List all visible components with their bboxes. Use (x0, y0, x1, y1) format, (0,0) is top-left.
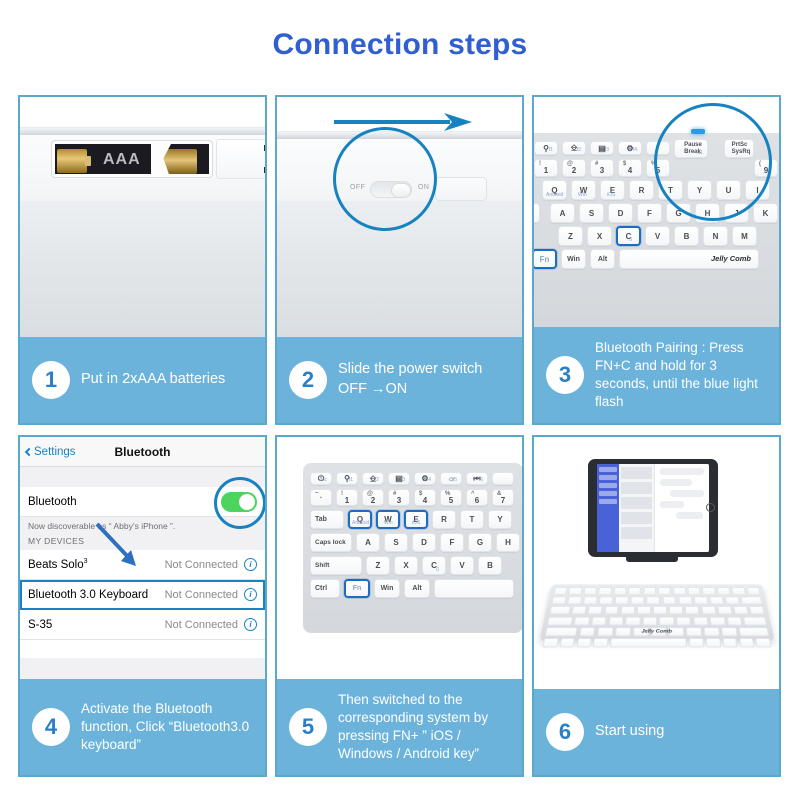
key-label: Z (568, 232, 573, 241)
step-panel-2: OFF ON 2 Slide the power switch OFF →ON (275, 95, 524, 425)
key[interactable] (732, 587, 746, 595)
key-r[interactable]: R (629, 180, 654, 200)
key-v[interactable]: V (450, 556, 474, 575)
key-v[interactable]: V (645, 226, 670, 246)
message-bubble (660, 479, 692, 486)
device-name-superscript: 3 (84, 558, 88, 565)
key-label: 4 (423, 496, 427, 505)
key-shift-char: ^ (471, 491, 475, 497)
key[interactable] (568, 587, 582, 595)
key[interactable] (676, 616, 691, 625)
key-sub: iOS (412, 520, 420, 526)
key[interactable] (613, 587, 626, 595)
key-c[interactable]: C 0 (616, 226, 641, 246)
key-caps-lock[interactable]: Caps lock (310, 533, 352, 552)
step-number-2: 2 (289, 361, 327, 399)
key-label: M (741, 232, 748, 241)
my-devices-header: MY DEVICES (20, 533, 265, 550)
key-n[interactable]: N (703, 226, 728, 246)
key[interactable] (721, 627, 738, 636)
key-d[interactable]: D (412, 533, 436, 552)
key-sub: iOS (607, 192, 615, 198)
brand-label: Jelly Comb (711, 254, 751, 263)
key[interactable] (685, 606, 700, 614)
key-label: Caps lock (315, 539, 346, 546)
step-number-4: 4 (32, 708, 70, 746)
keyboard-edge (20, 127, 265, 135)
key-label: Alt (598, 256, 607, 263)
device-status: Not Connected (165, 559, 238, 571)
key-t[interactable]: T (460, 510, 484, 529)
key-b[interactable]: B (674, 226, 699, 246)
key-f[interactable]: F (637, 203, 662, 223)
key-arrow-updown[interactable] (739, 638, 755, 647)
step-1-text: Put in 2xAAA batteries (81, 370, 225, 390)
keyboard-5: ⏻esc ⚲f1 ⎒f2 ▤f3 ⚙f4 ☼f5 ⏮f6 ~ ` (303, 463, 522, 633)
key-a[interactable]: A (550, 203, 575, 223)
step-number-3: 3 (546, 356, 584, 394)
key-s[interactable]: S (579, 203, 604, 223)
key[interactable] (597, 627, 613, 636)
key-e[interactable]: E iOS (404, 510, 428, 529)
key-shift-char: @ (567, 161, 573, 167)
key[interactable] (643, 587, 656, 595)
steps-grid: AAA 1 Put in 2xAAA batteries (18, 95, 782, 777)
step-panel-4: Settings Bluetooth Bluetooth Now discove… (18, 435, 267, 777)
key-2[interactable]: @ 2 (562, 159, 586, 177)
key-shift-char: & (497, 491, 501, 497)
key-backtick[interactable]: ~ ` (310, 489, 332, 506)
list-item (621, 467, 652, 479)
step-6-caption: 6 Start using (534, 689, 779, 775)
key-1[interactable]: ! 1 (534, 159, 558, 177)
message-bubble (676, 512, 703, 519)
key-win[interactable]: Win (374, 579, 400, 598)
key-sub: Win (578, 192, 587, 198)
key-z[interactable]: Z (366, 556, 390, 575)
step-2-caption: 2 Slide the power switch OFF →ON (277, 337, 522, 423)
step-panel-1: AAA 1 Put in 2xAAA batteries (18, 95, 267, 425)
key[interactable] (669, 606, 683, 614)
key-backspace[interactable] (740, 597, 762, 605)
cover-pin-top (264, 145, 265, 151)
key-label: H (505, 538, 511, 547)
key-f3[interactable]: ▤f3 (590, 141, 614, 155)
device-row-beats-solo[interactable]: Beats Solo3 Not Connected i (20, 550, 265, 580)
step-3-illustration: ⚲f1 ⎒f2 ▤f3 ⚙f4 Pause Breakf11 PrtSc Sys… (534, 97, 779, 327)
key-enter[interactable] (743, 616, 767, 625)
key-label: 4 (628, 166, 632, 175)
key-label: R (639, 186, 645, 195)
key-label: R (441, 515, 447, 524)
message-bubble (660, 468, 704, 475)
key-label: Alt (412, 585, 421, 592)
key[interactable] (625, 616, 640, 625)
device-name: S-35 (28, 619, 165, 631)
key-f4[interactable]: ⚙f4 (618, 141, 642, 155)
device-status: Not Connected (165, 619, 238, 631)
key-shift-char: % (445, 491, 450, 497)
key[interactable] (583, 597, 598, 605)
key-shift[interactable]: Shift (310, 556, 362, 575)
key-label: S (589, 209, 594, 218)
key-sub: f2 (375, 477, 379, 483)
key[interactable] (693, 616, 708, 625)
key-label: T (470, 515, 475, 524)
key-sub: Android (546, 192, 563, 198)
key[interactable] (647, 597, 661, 605)
ios-list-tail (20, 640, 265, 658)
key[interactable] (599, 597, 613, 605)
key[interactable] (574, 616, 590, 625)
key-label: K (763, 209, 769, 218)
key-f3[interactable]: ▤f3 (388, 472, 410, 485)
tablet-screen (597, 464, 709, 552)
key[interactable] (749, 606, 765, 614)
key-sub: f6 (479, 477, 483, 483)
key[interactable] (678, 597, 692, 605)
key-label: X (403, 561, 408, 570)
key-label: S (393, 538, 398, 547)
brand-label: Jelly Comb (641, 629, 672, 634)
key-7[interactable]: & 7 (492, 489, 514, 506)
bluetooth-row-label: Bluetooth (28, 496, 221, 508)
sidebar-item (599, 483, 617, 488)
key-label: N (713, 232, 719, 241)
key[interactable] (598, 587, 612, 595)
message-bubble (670, 490, 704, 497)
key[interactable] (642, 616, 657, 625)
key-label: X (597, 232, 602, 241)
key-alt[interactable] (593, 638, 608, 647)
key-win[interactable] (576, 638, 592, 647)
key[interactable] (567, 597, 582, 605)
step-5-caption: 5 Then switched to the corresponding sys… (277, 679, 522, 775)
step-6-text: Start using (595, 722, 664, 742)
key-row (547, 616, 767, 625)
key-x[interactable]: X (394, 556, 418, 575)
key-shift-char: $ (419, 491, 422, 497)
step-4-text: Activate the Bluetooth function, Click “… (81, 700, 257, 753)
key-caps-lock[interactable]: ock (534, 203, 540, 223)
key-2[interactable]: @ 2 (362, 489, 384, 506)
key[interactable] (726, 616, 742, 625)
key-label: 2 (572, 166, 576, 175)
key-4[interactable]: $ 4 (618, 159, 642, 177)
step-2-text-line2: OFF →ON (338, 380, 482, 400)
key-label: V (655, 232, 660, 241)
key[interactable] (583, 587, 597, 595)
key-space[interactable] (610, 638, 687, 647)
key-label: Ctrl (315, 585, 327, 592)
message-bubble (660, 501, 684, 508)
key-arrow-left[interactable] (722, 638, 738, 647)
list-item (621, 497, 652, 509)
key-label: B (487, 561, 493, 570)
tablet-stand (626, 556, 678, 562)
step-2-text-line1: Slide the power switch (338, 360, 482, 380)
sidebar-item (599, 499, 617, 504)
key[interactable] (579, 627, 596, 636)
tablet-device (588, 459, 718, 557)
key[interactable] (701, 606, 716, 614)
key-label: F (450, 538, 455, 547)
key-f2[interactable]: ⎒f2 (562, 141, 586, 155)
key[interactable] (615, 627, 631, 636)
key[interactable] (551, 597, 566, 605)
key-ctrl[interactable] (542, 638, 558, 647)
key-label: A (560, 209, 566, 218)
key[interactable] (687, 587, 700, 595)
key-shift-char: ! (539, 161, 541, 167)
key-sub: f1 (549, 147, 553, 153)
key-sub: f4 (427, 477, 431, 483)
key[interactable] (710, 616, 726, 625)
key-b[interactable]: B (478, 556, 502, 575)
step-4-caption: 4 Activate the Bluetooth function, Click… (20, 679, 265, 775)
key-shift-right[interactable] (739, 627, 770, 636)
home-button-icon (706, 503, 715, 512)
switch-recess (435, 177, 487, 201)
app-conversation-list (619, 464, 655, 552)
key-z[interactable]: Z (558, 226, 583, 246)
key[interactable] (588, 606, 603, 614)
key-1[interactable]: ! 1 (336, 489, 358, 506)
key-c[interactable]: C 0 (422, 556, 446, 575)
key-tab[interactable]: Tab (310, 510, 344, 529)
key-6[interactable]: ^ 6 (466, 489, 488, 506)
key-label: 6 (475, 496, 479, 505)
key-f7[interactable] (492, 472, 514, 485)
sidebar-item (599, 467, 617, 472)
key[interactable] (604, 606, 619, 614)
battery-size-label: AAA (103, 151, 141, 169)
key-4[interactable]: $ 4 (414, 489, 436, 506)
key[interactable] (653, 606, 667, 614)
step-2-illustration: OFF ON (277, 97, 522, 337)
key-sub: f3 (605, 147, 609, 153)
key-sub: f5 (453, 477, 457, 483)
key-label: G (477, 538, 483, 547)
step-panel-6: Jelly Comb 6 Start using (532, 435, 781, 777)
key-h[interactable]: H (496, 533, 520, 552)
step-3-caption: 3 Bluetooth Pairing : Press FN+C and hol… (534, 327, 779, 423)
key-fn[interactable]: Fn (344, 579, 370, 598)
key[interactable] (608, 616, 623, 625)
key[interactable] (717, 587, 731, 595)
key-k[interactable]: K (753, 203, 778, 223)
key-shift-char: # (393, 491, 396, 497)
key-y[interactable]: Y (488, 510, 512, 529)
key-w[interactable]: W Win (376, 510, 400, 529)
key-space[interactable] (434, 579, 514, 598)
key-label: 3 (397, 496, 401, 505)
key[interactable] (709, 597, 724, 605)
battery-tray: AAA (52, 141, 212, 177)
step-2-text: Slide the power switch OFF →ON (338, 360, 482, 399)
key-f5[interactable]: ☼f5 (440, 472, 462, 485)
key-fn[interactable] (559, 638, 575, 647)
key-label: 3 (600, 166, 604, 175)
key-alt[interactable]: Alt (404, 579, 430, 598)
key[interactable] (689, 638, 704, 647)
key-sub: 0 (436, 567, 439, 573)
key-shift-char: ! (341, 491, 343, 497)
key-row (553, 587, 760, 595)
key[interactable] (705, 638, 720, 647)
key-g[interactable]: G (468, 533, 492, 552)
key-sub: f3 (401, 477, 405, 483)
sidebar-item (599, 475, 617, 480)
step-number-1: 1 (32, 361, 70, 399)
key[interactable] (746, 587, 760, 595)
key[interactable] (628, 587, 641, 595)
key-label: Win (567, 256, 580, 263)
key-sub: f2 (577, 147, 581, 153)
key-shift-char: # (595, 161, 598, 167)
key-e[interactable]: E iOS (600, 180, 625, 200)
key-q[interactable]: Q Android (348, 510, 372, 529)
key-row (551, 597, 762, 605)
device-name: Bluetooth 3.0 Keyboard (28, 589, 165, 601)
step-4-illustration: Settings Bluetooth Bluetooth Now discove… (20, 437, 265, 679)
device-row-s-35[interactable]: S-35 Not Connected i (20, 610, 265, 640)
keyboard-underside (20, 201, 265, 337)
battery-cover (216, 139, 265, 179)
app-message-pane (655, 464, 709, 552)
key-label: Shift (315, 562, 329, 569)
key[interactable] (694, 597, 708, 605)
key[interactable] (686, 627, 702, 636)
key-fn[interactable]: Fn (534, 249, 557, 269)
key-label: D (618, 209, 624, 218)
keyboard-6: Jelly Comb (539, 584, 774, 641)
key[interactable] (704, 627, 720, 636)
key-label: Win (381, 585, 394, 592)
key-label: 1 (544, 166, 548, 175)
key-label: V (459, 561, 464, 570)
step-1-illustration: AAA (20, 97, 265, 337)
key-s[interactable]: S (384, 533, 408, 552)
info-icon[interactable]: i (244, 618, 257, 631)
step-panel-3: ⚲f1 ⎒f2 ▤f3 ⚙f4 Pause Breakf11 PrtSc Sys… (532, 95, 781, 425)
key[interactable] (659, 616, 674, 625)
key-w[interactable]: W Win (571, 180, 596, 200)
key-f1[interactable]: ⚲f1 (336, 472, 358, 485)
highlight-circle (654, 103, 772, 221)
step-5-illustration: ⏻esc ⚲f1 ⎒f2 ▤f3 ⚙f4 ☼f5 ⏮f6 ~ ` (277, 437, 522, 679)
key-f4[interactable]: ⚙f4 (414, 472, 436, 485)
list-item (621, 512, 652, 524)
key-5[interactable]: % 5 (440, 489, 462, 506)
app-sidebar (597, 464, 619, 552)
key-sub: Android (352, 520, 369, 526)
key[interactable] (572, 606, 587, 614)
key-3[interactable]: # 3 (388, 489, 410, 506)
key-shift-char: @ (367, 491, 373, 497)
key[interactable] (702, 587, 716, 595)
highlight-circle (214, 477, 265, 529)
page-title: Connection steps (0, 0, 800, 62)
key-label: D (421, 538, 427, 547)
step-1-caption: 1 Put in 2xAAA batteries (20, 337, 265, 423)
key[interactable] (637, 606, 651, 614)
step-6-illustration: Jelly Comb (534, 437, 779, 689)
key-row (542, 638, 771, 647)
key[interactable] (620, 606, 634, 614)
key-f[interactable]: F (440, 533, 464, 552)
key[interactable] (553, 587, 567, 595)
key-label: Z (376, 561, 381, 570)
key-r[interactable]: R (432, 510, 456, 529)
info-icon[interactable]: i (244, 558, 257, 571)
key-shift-char: ~ (315, 491, 319, 497)
ios-bluetooth-settings: Settings Bluetooth Bluetooth Now discove… (20, 437, 265, 679)
key-sub: esc (319, 477, 327, 483)
key-label: 1 (345, 496, 349, 505)
key-tab[interactable] (549, 606, 571, 614)
key[interactable] (717, 606, 732, 614)
step-number-6: 6 (546, 713, 584, 751)
key-win[interactable]: Win (561, 249, 586, 269)
list-item (621, 482, 652, 494)
key[interactable] (725, 597, 740, 605)
key-arrow-right[interactable] (755, 638, 771, 647)
device-row-bluetooth-30-keyboard[interactable]: Bluetooth 3.0 Keyboard Not Connected i (20, 580, 265, 610)
key-row (549, 606, 765, 614)
key-sub: 0 (629, 237, 632, 243)
key-d[interactable]: D (608, 203, 633, 223)
key-ctrl[interactable]: Ctrl (310, 579, 340, 598)
key[interactable] (673, 587, 686, 595)
step-3-text: Bluetooth Pairing : Press FN+C and hold … (595, 339, 771, 410)
pointer-arrow-icon (94, 521, 142, 571)
key[interactable] (631, 597, 645, 605)
key-sub: f1 (349, 477, 353, 483)
key[interactable] (658, 587, 671, 595)
key-sub: Win (384, 520, 393, 526)
key-label: Tab (315, 516, 327, 523)
step-panel-5: ⏻esc ⚲f1 ⎒f2 ▤f3 ⚙f4 ☼f5 ⏮f6 ~ ` (275, 435, 524, 777)
key[interactable] (733, 606, 748, 614)
info-icon[interactable]: i (244, 588, 257, 601)
key-3[interactable]: # 3 (590, 159, 614, 177)
ios-navbar: Settings Bluetooth (20, 437, 265, 467)
key-label: A (365, 538, 371, 547)
list-item (621, 527, 652, 539)
device-status: Not Connected (165, 589, 238, 601)
key-shift[interactable] (545, 627, 578, 636)
ios-page-title: Bluetooth (20, 445, 265, 459)
key-f1[interactable]: ⚲f1 (534, 141, 558, 155)
key-m[interactable]: M (732, 226, 757, 246)
key-alt[interactable]: Alt (590, 249, 615, 269)
key-f6[interactable]: ⏮f6 (466, 472, 488, 485)
key-q[interactable]: Q Android (542, 180, 567, 200)
cover-pin-bottom (264, 167, 265, 173)
key-x[interactable]: X (587, 226, 612, 246)
key-caps-lock[interactable] (547, 616, 573, 625)
key-f2[interactable]: ⎒f2 (362, 472, 384, 485)
key[interactable] (591, 616, 607, 625)
key[interactable] (662, 597, 676, 605)
key-label: 7 (501, 496, 505, 505)
key[interactable] (615, 597, 629, 605)
key-a[interactable]: A (356, 533, 380, 552)
key-esc[interactable]: ⏻esc (310, 472, 332, 485)
key-sub: f4 (633, 147, 637, 153)
highlight-circle (333, 127, 437, 231)
